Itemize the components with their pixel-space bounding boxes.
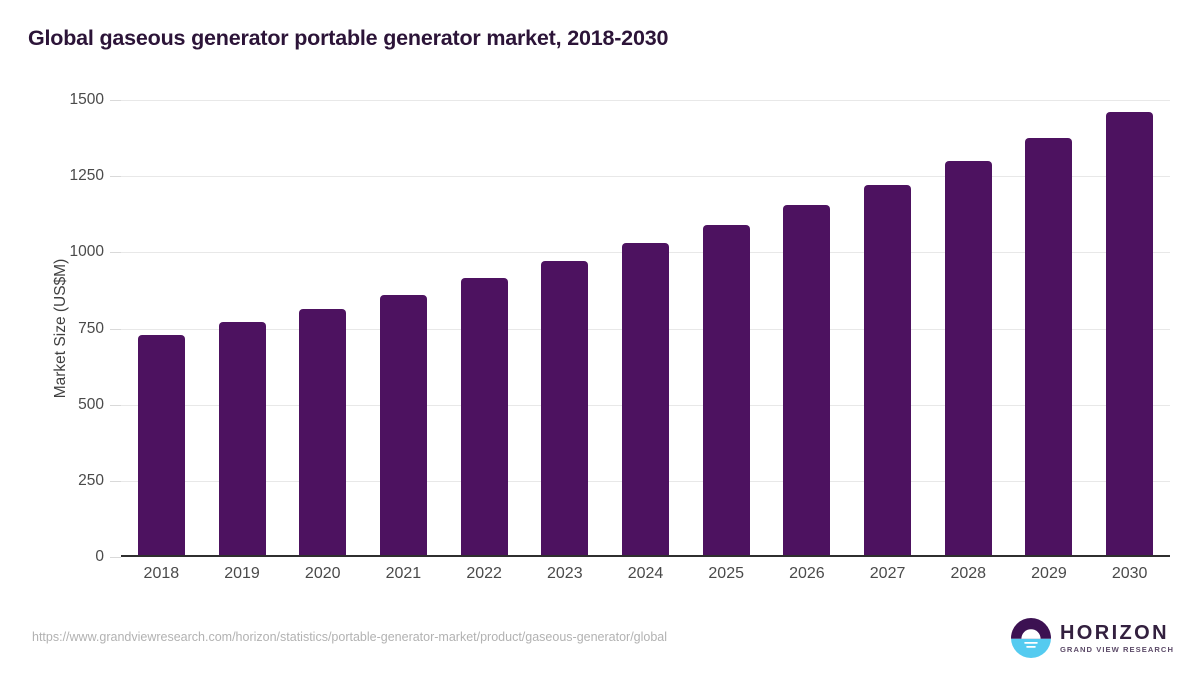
y-axis-tick (110, 252, 121, 253)
bar[interactable] (219, 322, 266, 557)
y-axis-tick (110, 405, 121, 406)
bar[interactable] (945, 161, 992, 557)
y-axis-tick (110, 557, 121, 558)
x-axis-tick-label: 2023 (524, 565, 605, 583)
bar[interactable] (299, 309, 346, 557)
bar-column[interactable] (928, 100, 1009, 557)
chart-page: Global gaseous generator portable genera… (0, 0, 1200, 675)
x-axis-tick-label: 2020 (282, 565, 363, 583)
bar-column[interactable] (121, 100, 202, 557)
x-axis-tick-label: 2029 (1009, 565, 1090, 583)
y-axis-tick-label: 1250 (70, 167, 104, 185)
y-axis-tick (110, 176, 121, 177)
bar-column[interactable] (1089, 100, 1170, 557)
brand-logo: HORIZON GRAND VIEW RESEARCH (1011, 617, 1174, 659)
brand-wordmark: HORIZON GRAND VIEW RESEARCH (1060, 623, 1174, 654)
y-axis-tick-label: 0 (95, 548, 104, 566)
bar-column[interactable] (1009, 100, 1090, 557)
y-axis-tick-label: 1000 (70, 243, 104, 261)
x-axis-tick-label: 2026 (767, 565, 848, 583)
bars-group (121, 100, 1170, 557)
y-axis-tick-label: 1500 (70, 91, 104, 109)
x-axis-line (121, 555, 1170, 557)
x-axis-tick-label: 2018 (121, 565, 202, 583)
x-axis-tick-label: 2027 (847, 565, 928, 583)
brand-name: HORIZON (1060, 623, 1174, 643)
x-axis-tick-label: 2030 (1089, 565, 1170, 583)
x-axis-tick-label: 2022 (444, 565, 525, 583)
bar-column[interactable] (686, 100, 767, 557)
x-axis-tick-label: 2019 (202, 565, 283, 583)
bar[interactable] (622, 243, 669, 557)
bar-column[interactable] (444, 100, 525, 557)
x-axis-tick-label: 2024 (605, 565, 686, 583)
bar-column[interactable] (363, 100, 444, 557)
bar-column[interactable] (767, 100, 848, 557)
bar-column[interactable] (605, 100, 686, 557)
page-title: Global gaseous generator portable genera… (28, 26, 668, 51)
source-url-text: https://www.grandviewresearch.com/horizo… (32, 630, 667, 644)
bar-column[interactable] (524, 100, 605, 557)
horizon-sunset-circle-icon (1011, 618, 1051, 658)
y-axis-tick (110, 100, 121, 101)
bar-column[interactable] (847, 100, 928, 557)
brand-tagline: GRAND VIEW RESEARCH (1060, 646, 1174, 654)
bar-column[interactable] (202, 100, 283, 557)
bar[interactable] (380, 295, 427, 557)
y-axis-tick (110, 481, 121, 482)
bar[interactable] (1106, 112, 1153, 557)
y-axis-tick-label: 750 (78, 320, 104, 338)
bar[interactable] (783, 205, 830, 557)
plot-area: 0250500750100012501500 (121, 100, 1170, 557)
bar-column[interactable] (282, 100, 363, 557)
y-axis-tick (110, 329, 121, 330)
y-axis-tick-label: 250 (78, 472, 104, 490)
x-axis-tick-label: 2021 (363, 565, 444, 583)
x-axis-tick-labels: 2018201920202021202220232024202520262027… (121, 565, 1170, 595)
bar[interactable] (864, 185, 911, 557)
bar[interactable] (461, 278, 508, 557)
y-axis-tick-label: 500 (78, 396, 104, 414)
bar[interactable] (1025, 138, 1072, 557)
x-axis-tick-label: 2028 (928, 565, 1009, 583)
bar[interactable] (138, 335, 185, 557)
bar[interactable] (541, 261, 588, 557)
x-axis-tick-label: 2025 (686, 565, 767, 583)
bar[interactable] (703, 225, 750, 557)
